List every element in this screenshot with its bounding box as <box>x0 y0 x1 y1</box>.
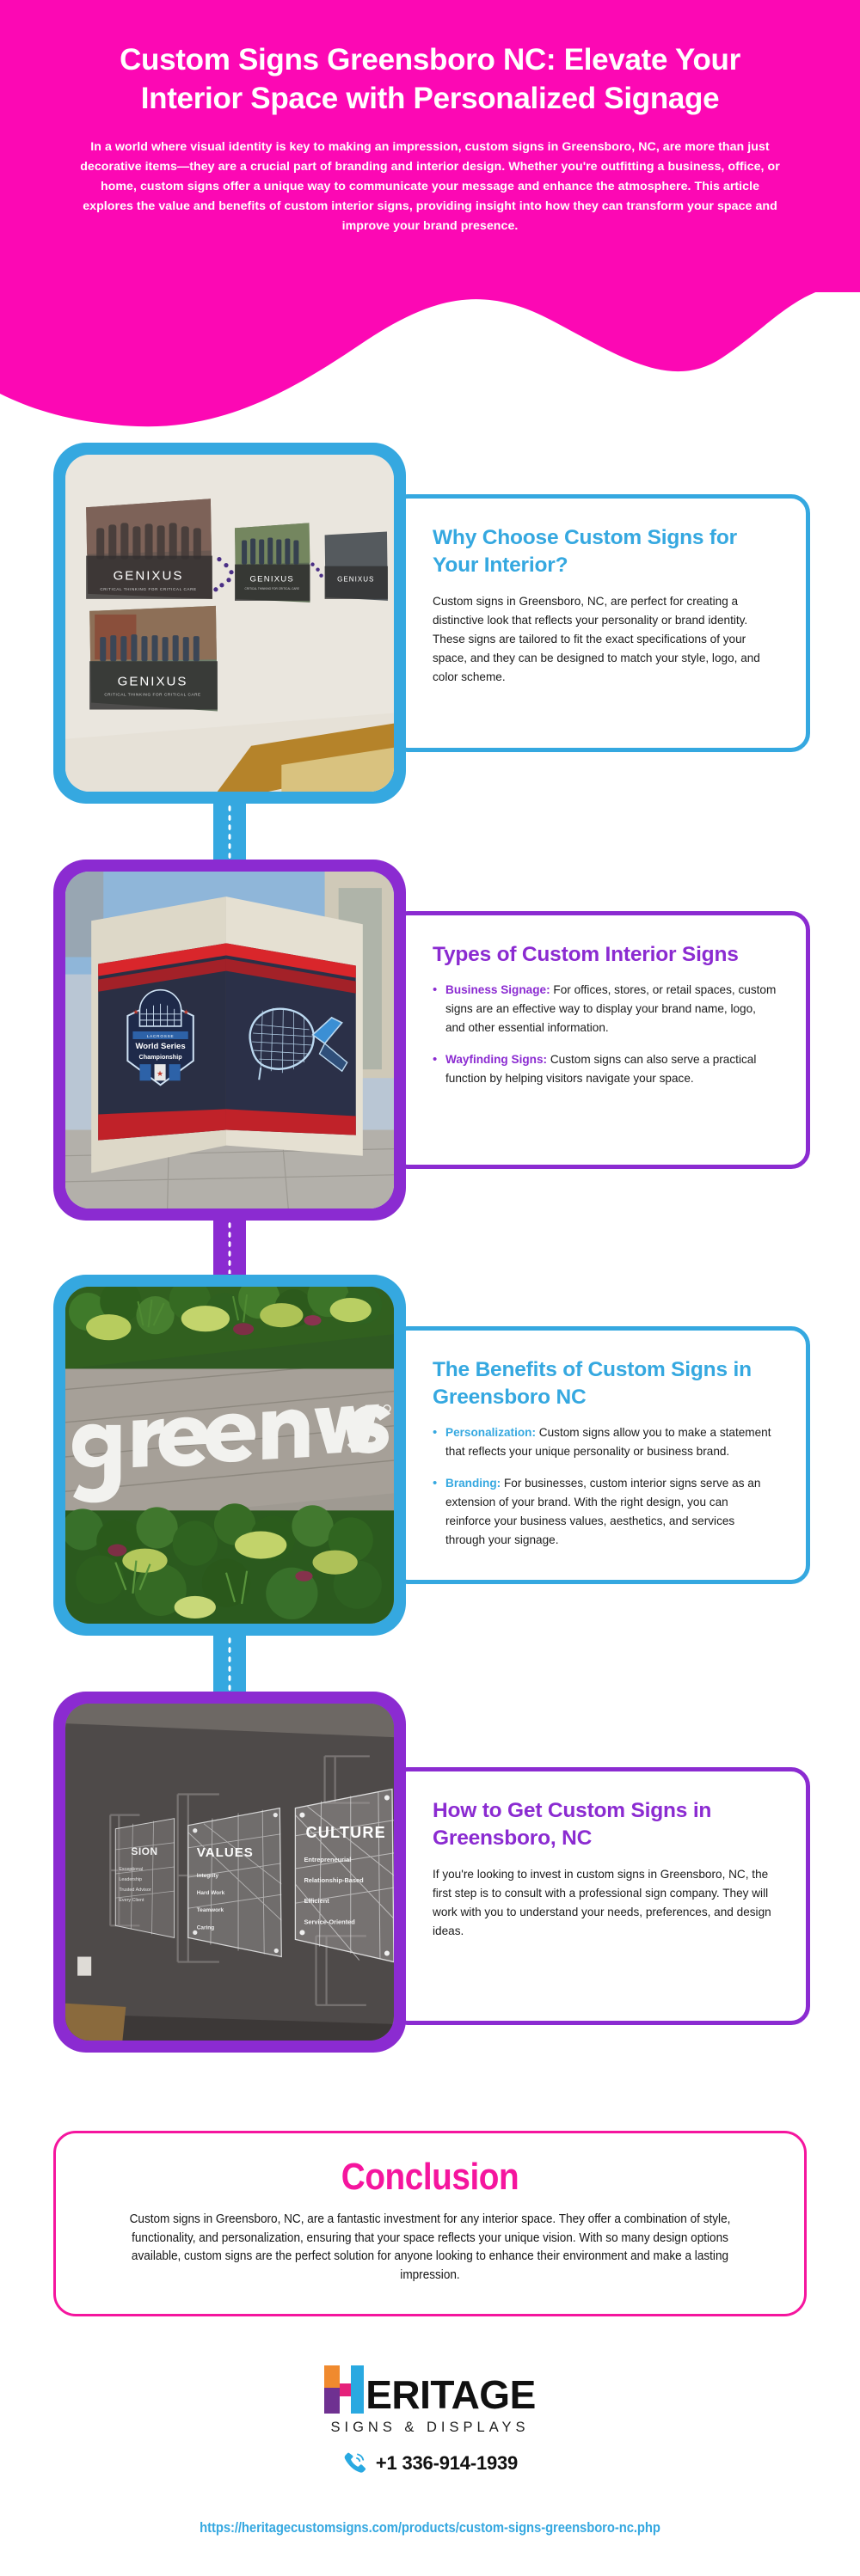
section-benefits: The Benefits of Custom Signs in Greensbo… <box>0 1275 860 1644</box>
section-text-card-3: The Benefits of Custom Signs in Greensbo… <box>389 1326 810 1584</box>
svg-text:Leadership: Leadership <box>119 1877 142 1882</box>
page-header: Custom Signs Greensboro NC: Elevate Your… <box>0 0 860 430</box>
svg-text:★: ★ <box>132 1008 138 1016</box>
bullet-item: Business Signage: For offices, stores, o… <box>433 981 777 1037</box>
photo-acrylic-values-panels: SION ExceptionalLeadership Trusted Advis… <box>65 1704 394 2041</box>
section-image-card-1: GENIXUS CRITICAL THINKING FOR CRITICAL C… <box>53 443 406 804</box>
conclusion-title: Conclusion <box>132 2156 728 2199</box>
svg-text:Championship: Championship <box>139 1053 183 1061</box>
heritage-h-monogram-icon <box>324 2365 364 2414</box>
svg-text:Entrepreneurial: Entrepreneurial <box>304 1856 351 1863</box>
phone-row[interactable]: +1 336-914-1939 <box>0 2451 860 2476</box>
section-heading: The Benefits of Custom Signs in Greensbo… <box>433 1356 777 1411</box>
svg-text:CRITICAL THINKING FOR CRITICAL: CRITICAL THINKING FOR CRITICAL CARE <box>100 587 196 591</box>
section-how-to-get: SION ExceptionalLeadership Trusted Advis… <box>0 1692 860 2061</box>
section-image-card-4: SION ExceptionalLeadership Trusted Advis… <box>53 1692 406 2053</box>
page-footer: ERITAGE SIGNS & DISPLAYS +1 336-914-1939 <box>0 2365 860 2476</box>
section-body: Custom signs in Greensboro, NC, are perf… <box>433 592 777 687</box>
svg-text:Service-Oriented: Service-Oriented <box>304 1918 355 1925</box>
svg-text:Exceptional: Exceptional <box>119 1867 143 1872</box>
phone-icon <box>342 2451 368 2476</box>
bullet-lead: Branding: <box>445 1477 501 1490</box>
section-text-card-4: How to Get Custom Signs in Greensboro, N… <box>389 1767 810 2025</box>
svg-text:GENIXUS: GENIXUS <box>250 575 294 584</box>
photo-lacrosse-wall-wrap: LACROSSE World Series Championship ★ ★ ★ <box>65 872 394 1208</box>
svg-text:CRITICAL THINKING FOR CRITICAL: CRITICAL THINKING FOR CRITICAL CARE <box>245 587 299 590</box>
svg-text:SION: SION <box>131 1845 157 1857</box>
header-wave-divider <box>0 273 860 437</box>
svg-text:★: ★ <box>183 1008 189 1016</box>
bullet-lead: Business Signage: <box>445 983 550 996</box>
svg-text:Every Client: Every Client <box>119 1898 144 1903</box>
svg-text:World Series: World Series <box>135 1042 185 1051</box>
photo-greenworks-sign <box>65 1287 394 1624</box>
section-image-card-3 <box>53 1275 406 1636</box>
svg-text:Relationship-Based: Relationship-Based <box>304 1876 364 1884</box>
section-bullet-list: Business Signage: For offices, stores, o… <box>433 981 777 1088</box>
conclusion-card: Conclusion Custom signs in Greensboro, N… <box>53 2131 807 2316</box>
svg-text:LACROSSE: LACROSSE <box>147 1034 175 1038</box>
svg-text:CULTURE: CULTURE <box>305 1824 385 1841</box>
section-image-card-2: LACROSSE World Series Championship ★ ★ ★ <box>53 860 406 1221</box>
section-heading: Types of Custom Interior Signs <box>433 941 777 969</box>
conclusion-body: Custom signs in Greensboro, NC, are a fa… <box>116 2211 745 2285</box>
svg-text:★: ★ <box>157 1069 163 1078</box>
section-why-choose: GENIXUS CRITICAL THINKING FOR CRITICAL C… <box>0 443 860 812</box>
page-title: Custom Signs Greensboro NC: Elevate Your… <box>62 41 798 119</box>
section-heading: How to Get Custom Signs in Greensboro, N… <box>433 1797 777 1852</box>
svg-text:Hard Work: Hard Work <box>197 1890 225 1896</box>
heritage-logo: ERITAGE SIGNS & DISPLAYS <box>324 2365 536 2436</box>
svg-text:Integrity: Integrity <box>197 1873 219 1879</box>
svg-text:GENIXUS: GENIXUS <box>114 569 184 584</box>
bullet-item: Branding: For businesses, custom interio… <box>433 1474 777 1550</box>
section-types-of-signs: LACROSSE World Series Championship ★ ★ ★ <box>0 860 860 1229</box>
phone-number[interactable]: +1 336-914-1939 <box>376 2452 518 2475</box>
bullet-item: Personalization: Custom signs allow you … <box>433 1423 777 1461</box>
svg-text:Caring: Caring <box>197 1924 214 1930</box>
svg-text:Trusted Advisor: Trusted Advisor <box>119 1888 151 1893</box>
svg-text:GENIXUS: GENIXUS <box>337 576 374 584</box>
bullet-lead: Wayfinding Signs: <box>445 1053 547 1066</box>
header-subtitle: In a world where visual identity is key … <box>62 138 798 236</box>
svg-text:GENIXUS: GENIXUS <box>118 674 188 688</box>
section-text-card-2: Types of Custom Interior Signs Business … <box>389 911 810 1169</box>
bullet-lead: Personalization: <box>445 1426 536 1439</box>
photo-genixus-plaques: GENIXUS CRITICAL THINKING FOR CRITICAL C… <box>65 455 394 792</box>
svg-text:Efficient: Efficient <box>304 1897 329 1905</box>
section-text-card-1: Why Choose Custom Signs for Your Interio… <box>389 494 810 752</box>
section-heading: Why Choose Custom Signs for Your Interio… <box>433 524 777 579</box>
svg-text:CRITICAL THINKING FOR CRITICAL: CRITICAL THINKING FOR CRITICAL CARE <box>104 692 200 696</box>
source-url[interactable]: https://heritagecustomsigns.com/products… <box>43 2520 817 2536</box>
heritage-tagline: SIGNS & DISPLAYS <box>324 2420 536 2436</box>
section-bullet-list: Personalization: Custom signs allow you … <box>433 1423 777 1550</box>
bullet-item: Wayfinding Signs: Custom signs can also … <box>433 1050 777 1088</box>
heritage-wordmark: ERITAGE <box>365 2376 536 2414</box>
svg-text:VALUES: VALUES <box>197 1845 254 1860</box>
section-body: If you're looking to invest in custom si… <box>433 1865 777 1941</box>
svg-text:Teamwork: Teamwork <box>197 1907 224 1913</box>
